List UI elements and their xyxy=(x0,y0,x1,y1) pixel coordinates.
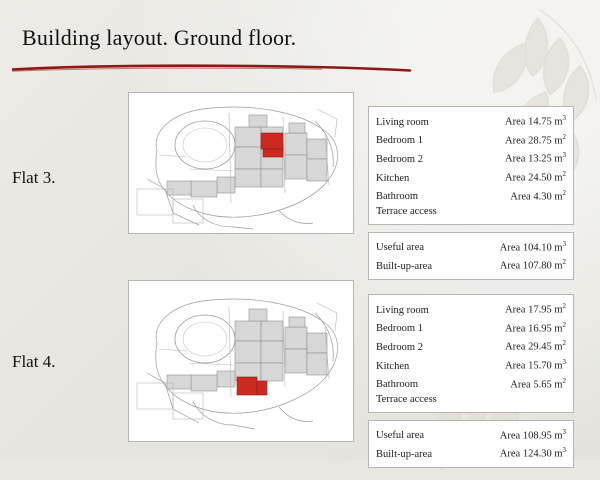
total-area: Area 104.10 m3 xyxy=(500,237,566,256)
page-title-wrapper: Building layout. Ground floor. xyxy=(22,26,582,50)
room-area: Area 13.25 m3 xyxy=(505,148,566,167)
totals-card-flat-3: Useful area Area 104.10 m3 Built-up-area… xyxy=(368,232,574,280)
total-area: Area 108.95 m3 xyxy=(500,425,566,444)
room-name: Living room xyxy=(376,304,429,318)
room-area-card-flat-4: Living room Area 17.95 m2 Bedroom 1 Area… xyxy=(368,294,574,413)
room-name: Bathroom xyxy=(376,378,418,392)
room-name: Bathroom xyxy=(376,190,418,204)
flat-label-0: Flat 3. xyxy=(12,168,55,188)
room-row: Terrace access xyxy=(376,393,566,407)
room-row: Living room Area 14.75 m3 xyxy=(376,111,566,130)
total-row: Useful area Area 104.10 m3 xyxy=(376,237,566,256)
room-row: Bedroom 2 Area 29.45 m2 xyxy=(376,336,566,355)
room-row: Kitchen Area 24.50 m2 xyxy=(376,167,566,186)
total-row: Built-up-area Area 124.30 m3 xyxy=(376,443,566,462)
room-name: Bedroom 2 xyxy=(376,341,423,355)
room-area: Area 14.75 m3 xyxy=(505,111,566,130)
room-area: Area 29.45 m2 xyxy=(505,336,566,355)
room-area: Area 28.75 m2 xyxy=(505,130,566,149)
total-row: Useful area Area 108.95 m3 xyxy=(376,425,566,444)
room-area: Area 5.65 m2 xyxy=(510,374,566,393)
site-plan-flat-3[interactable] xyxy=(128,92,354,234)
room-row: Kitchen Area 15.70 m3 xyxy=(376,355,566,374)
title-underline-rule xyxy=(12,64,412,72)
total-area: Area 107.80 m2 xyxy=(500,255,566,274)
total-name: Useful area xyxy=(376,429,424,443)
room-name: Bedroom 2 xyxy=(376,153,423,167)
room-name: Living room xyxy=(376,116,429,130)
total-name: Useful area xyxy=(376,241,424,255)
room-area: Area 24.50 m2 xyxy=(505,167,566,186)
totals-card-flat-4: Useful area Area 108.95 m3 Built-up-area… xyxy=(368,420,574,468)
page-title: Building layout. Ground floor. xyxy=(22,26,582,50)
total-area: Area 124.30 m3 xyxy=(500,443,566,462)
room-row: Bedroom 2 Area 13.25 m3 xyxy=(376,148,566,167)
total-row: Built-up-area Area 107.80 m2 xyxy=(376,255,566,274)
room-area: Area 16.95 m2 xyxy=(505,318,566,337)
room-row: Bedroom 1 Area 16.95 m2 xyxy=(376,318,566,337)
room-area: Area 17.95 m2 xyxy=(505,299,566,318)
room-name: Kitchen xyxy=(376,360,409,374)
room-name: Kitchen xyxy=(376,172,409,186)
room-row: Bedroom 1 Area 28.75 m2 xyxy=(376,130,566,149)
room-name: Bedroom 1 xyxy=(376,322,423,336)
room-area-card-flat-3: Living room Area 14.75 m3 Bedroom 1 Area… xyxy=(368,106,574,225)
room-name: Bedroom 1 xyxy=(376,134,423,148)
room-row: Terrace access xyxy=(376,205,566,219)
room-row: Living room Area 17.95 m2 xyxy=(376,299,566,318)
room-row: Bathroom Area 4.30 m2 xyxy=(376,186,566,205)
room-row: Bathroom Area 5.65 m2 xyxy=(376,374,566,393)
total-name: Built-up-area xyxy=(376,260,432,274)
flat-label-1: Flat 4. xyxy=(12,352,55,372)
room-area: Area 4.30 m2 xyxy=(510,186,566,205)
site-plan-flat-4[interactable] xyxy=(128,280,354,442)
room-name: Terrace access xyxy=(376,205,566,219)
info-column-flat-3: Living room Area 14.75 m3 Bedroom 1 Area… xyxy=(368,106,574,280)
info-column-flat-4: Living room Area 17.95 m2 Bedroom 1 Area… xyxy=(368,294,574,468)
highlighted-flat-area xyxy=(261,133,283,157)
room-area: Area 15.70 m3 xyxy=(505,355,566,374)
room-name: Terrace access xyxy=(376,393,566,407)
